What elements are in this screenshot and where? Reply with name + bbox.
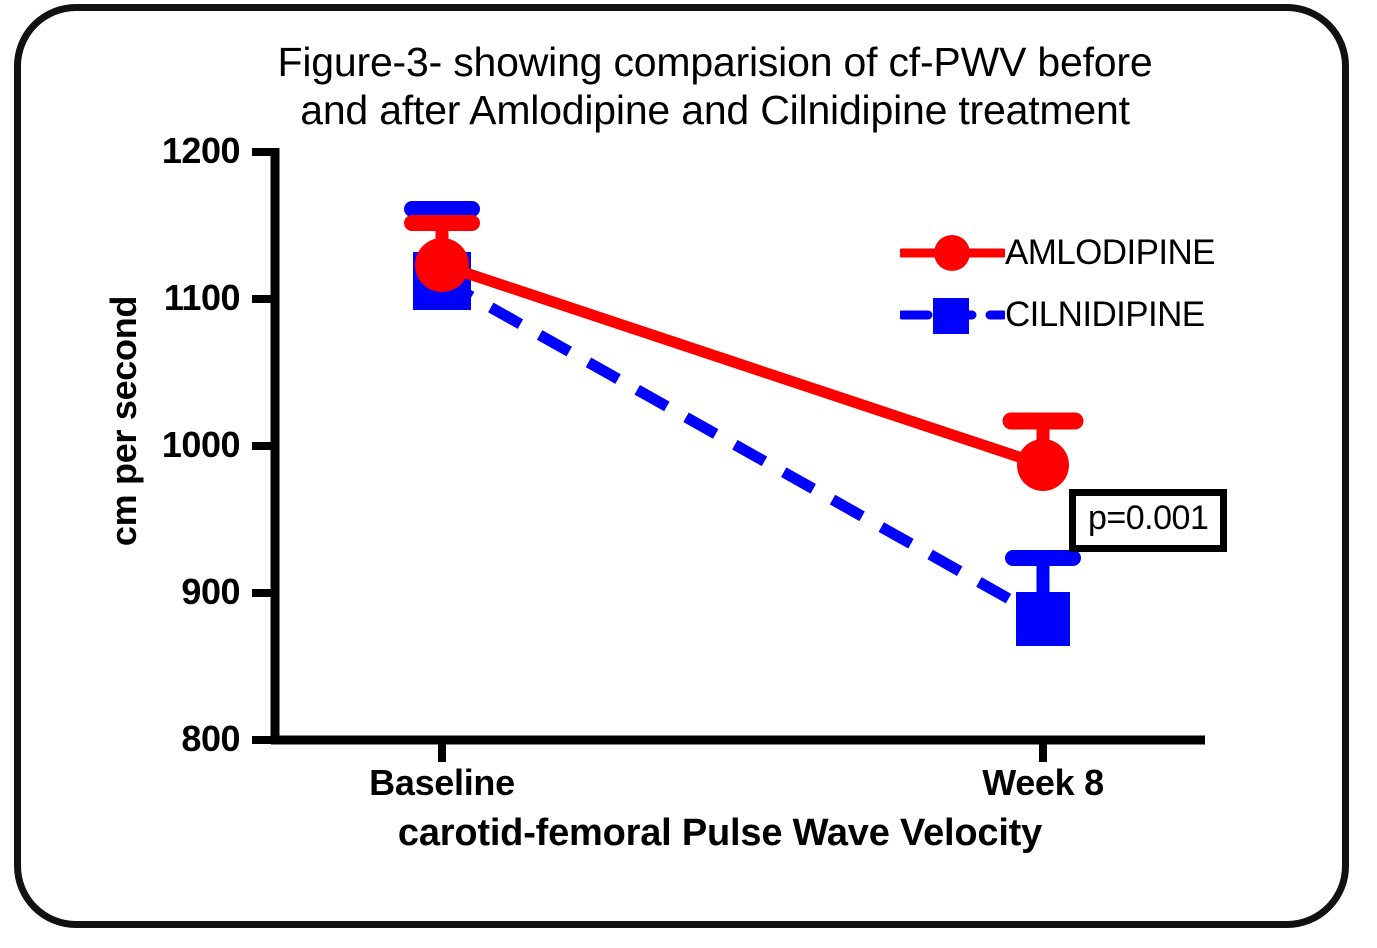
legend-label-amlodipine: AMLODIPINE [1005,233,1215,273]
y-tick-label-900: 900 [140,571,240,613]
legend-square-marker-icon [933,298,969,334]
legend-label-cilnidipine: CILNIDIPINE [1005,295,1205,335]
cilnidipine-marker-week8 [1016,592,1070,646]
chart-legend: AMLODIPINE CILNIDIPINE [900,222,1220,346]
y-axis-title: cm per second [103,251,145,591]
x-tick-label-baseline: Baseline [292,762,592,804]
legend-key-cilnidipine [900,295,1005,335]
y-tick-label-1200: 1200 [140,130,240,172]
legend-key-amlodipine [900,233,1005,273]
legend-item-amlodipine: AMLODIPINE [900,222,1220,284]
y-tick-label-800: 800 [140,718,240,760]
x-tick-label-week8: Week 8 [893,762,1193,804]
y-tick-label-1000: 1000 [140,424,240,466]
amlodipine-marker-week8 [1017,439,1069,491]
amlodipine-marker-baseline [415,238,469,292]
legend-item-cilnidipine: CILNIDIPINE [900,284,1220,346]
y-tick-label-1100: 1100 [140,277,240,319]
figure-container: Figure-3- showing comparision of cf-PWV … [0,0,1377,948]
legend-circle-marker-icon [934,235,970,271]
p-value-annotation: p=0.001 [1069,489,1227,552]
x-axis-title: carotid-femoral Pulse Wave Velocity [250,812,1190,855]
